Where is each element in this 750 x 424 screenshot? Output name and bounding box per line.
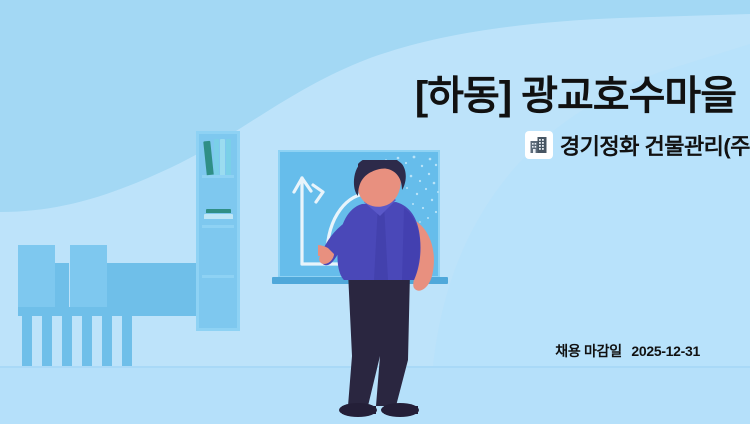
page-title: [하동] 광교호수마을 — [0, 74, 750, 118]
deadline-date: 2025-12-31 — [631, 343, 700, 359]
deadline-text: 채용 마감일 2025-12-31 — [0, 341, 750, 361]
bookshelf-shelf — [202, 178, 234, 228]
building-icon — [525, 131, 553, 159]
book-stack — [204, 214, 233, 219]
book-stack — [206, 209, 231, 213]
office-chair-middle-back — [107, 263, 143, 308]
table-top — [18, 307, 143, 316]
illustration-businessman — [318, 160, 448, 424]
bookshelf — [196, 131, 240, 331]
bookshelf-shelf — [202, 278, 234, 328]
recruitment-banner: [하동] 광교호수마을 경기정화 건물관리(주 채용 마감일 2025-12-3… — [0, 0, 750, 424]
company-name: 경기정화 건물관리(주 — [560, 129, 750, 161]
company-row: 경기정화 건물관리(주 — [0, 129, 750, 161]
deadline-label: 채용 마감일 — [555, 343, 622, 359]
office-chair-middle — [70, 245, 107, 308]
office-chair-left — [18, 245, 55, 308]
bookshelf-shelf — [202, 228, 234, 278]
office-chair-left-back — [55, 263, 69, 308]
